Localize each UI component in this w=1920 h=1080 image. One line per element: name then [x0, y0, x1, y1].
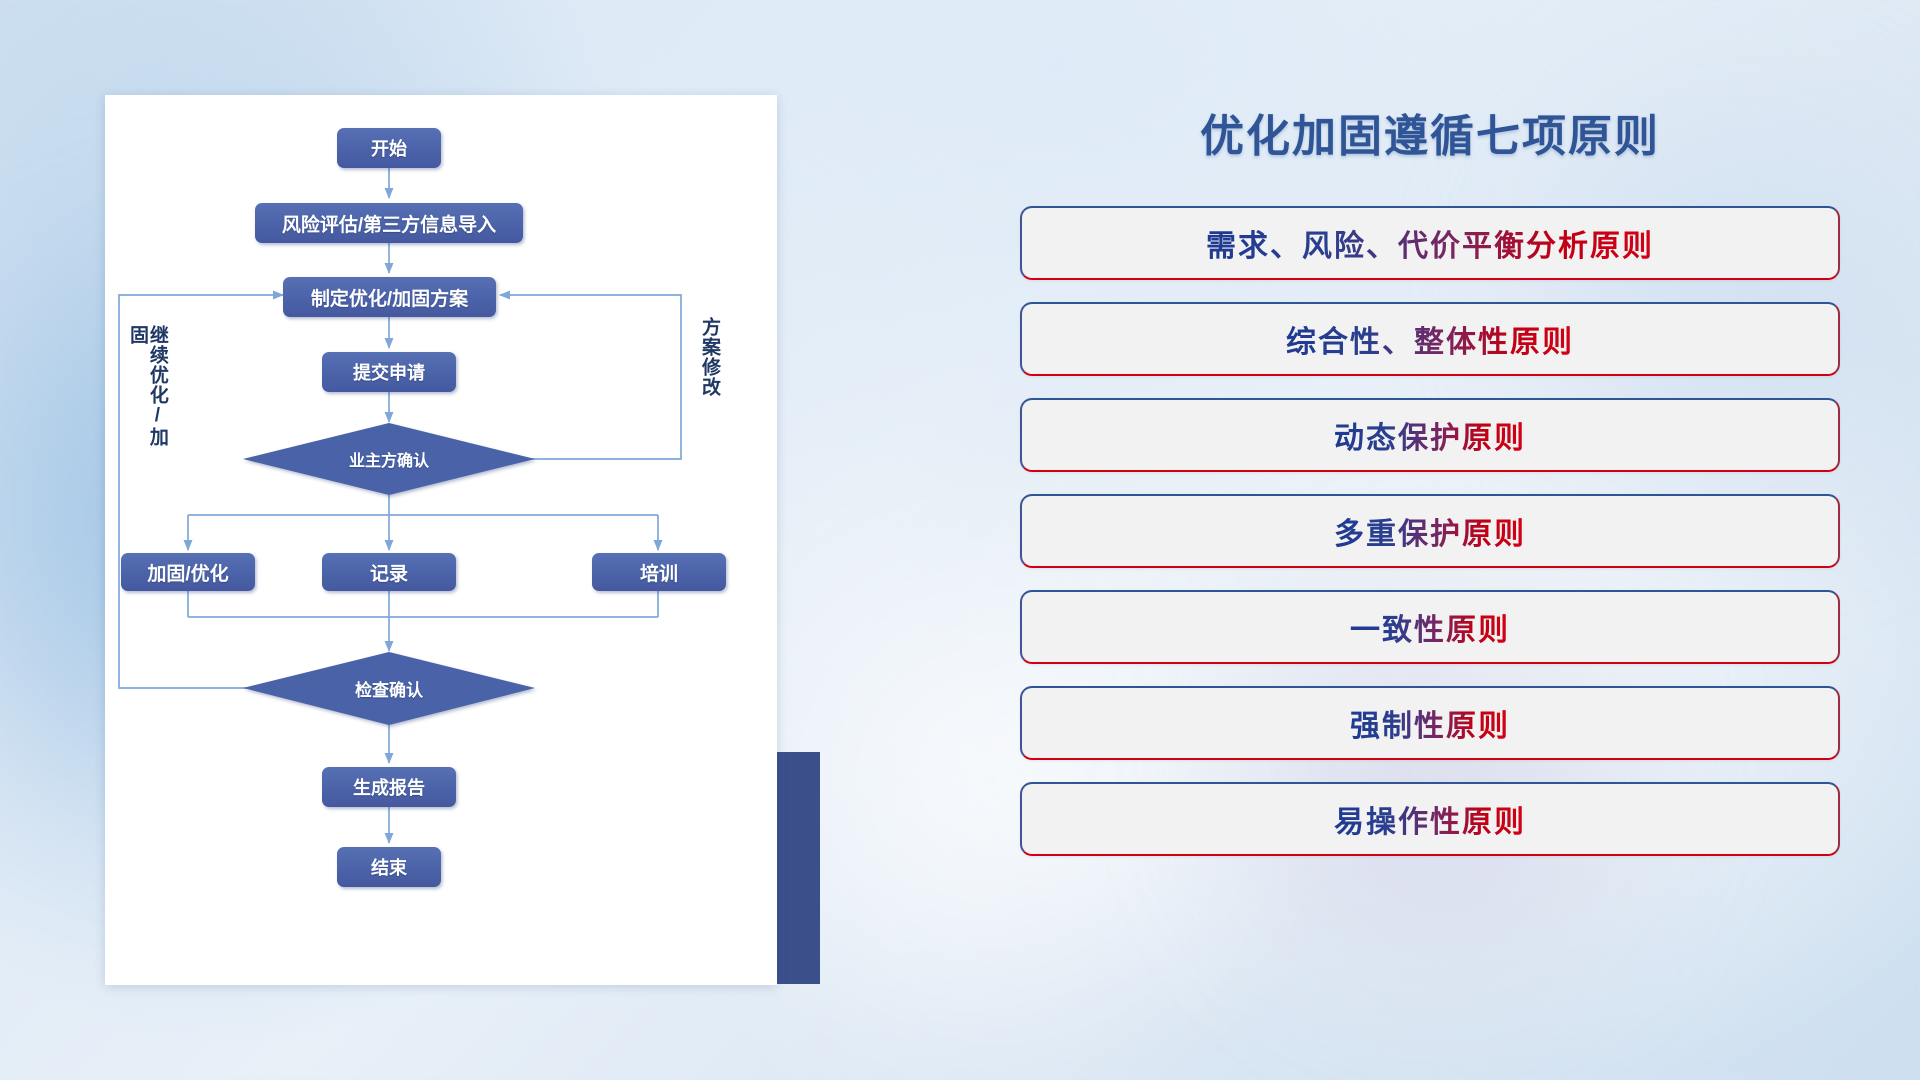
flowchart-canvas — [105, 95, 777, 985]
principle-label: 一致性原则 — [1350, 605, 1510, 649]
flow-node-check-confirm[interactable] — [243, 652, 535, 725]
flow-node-plan[interactable] — [283, 277, 496, 317]
principle-label: 强制性原则 — [1350, 701, 1510, 745]
principle-item[interactable]: 强制性原则 — [1020, 686, 1840, 760]
flow-node-submit[interactable] — [322, 352, 456, 392]
flow-node-reinforce[interactable] — [121, 553, 255, 591]
principle-item[interactable]: 综合性、整体性原则 — [1020, 302, 1840, 376]
principle-label: 动态保护原则 — [1334, 413, 1526, 457]
principle-label: 易操作性原则 — [1334, 797, 1526, 841]
principle-item[interactable]: 一致性原则 — [1020, 590, 1840, 664]
flow-node-record[interactable] — [322, 553, 456, 591]
flow-node-end[interactable] — [337, 847, 441, 887]
principles-title: 优化加固遵循七项原则 — [1020, 100, 1840, 164]
principle-item[interactable]: 多重保护原则 — [1020, 494, 1840, 568]
principle-label: 多重保护原则 — [1334, 509, 1526, 553]
principles-panel: 优化加固遵循七项原则 需求、风险、代价平衡分析原则 综合性、整体性原则 动态保护… — [1020, 100, 1840, 878]
principle-item[interactable]: 需求、风险、代价平衡分析原则 — [1020, 206, 1840, 280]
flow-node-risk[interactable] — [255, 203, 523, 243]
principle-label: 综合性、整体性原则 — [1286, 317, 1574, 361]
principle-item[interactable]: 动态保护原则 — [1020, 398, 1840, 472]
principle-label: 需求、风险、代价平衡分析原则 — [1206, 221, 1654, 265]
flow-node-owner-confirm[interactable] — [243, 423, 535, 495]
principle-item[interactable]: 易操作性原则 — [1020, 782, 1840, 856]
flow-node-start[interactable] — [337, 128, 441, 168]
flow-node-report[interactable] — [322, 767, 456, 807]
flow-edge-label-continue-optimize: 继续优化/加固 — [127, 325, 167, 465]
flowchart-card: 开始 风险评估/第三方信息导入 制定优化/加固方案 提交申请 业主方确认 加固/… — [105, 95, 777, 985]
flow-edge-label-plan-revision: 方案修改 — [699, 317, 719, 427]
flow-node-training[interactable] — [592, 553, 726, 591]
